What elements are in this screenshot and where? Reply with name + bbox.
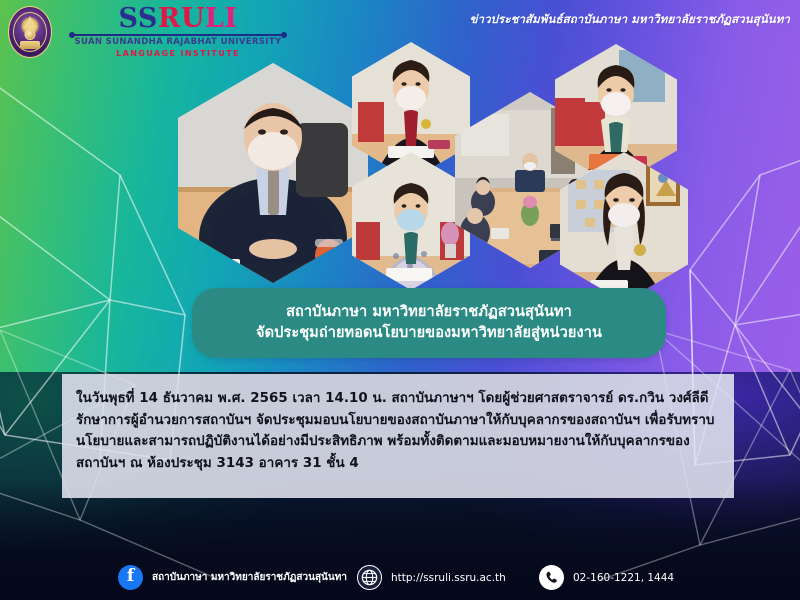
- header: SSRULI SUAN SUNANDHA RAJABHAT UNIVERSITY…: [0, 0, 800, 64]
- phone-icon[interactable]: [539, 565, 564, 590]
- header-news-label: ข่าวประชาสัมพันธ์สถาบันภาษา มหาวิทยาลัยร…: [470, 11, 790, 29]
- globe-icon[interactable]: [357, 565, 382, 590]
- title-line-1: สถาบันภาษา มหาวิทยาลัยราชภัฏสวนสุนันทา: [286, 302, 572, 323]
- title-line-2: จัดประชุมถ่ายทอดนโยบายของมหาวิทยาลัยสู่ห…: [256, 323, 602, 344]
- poster-canvas: SSRULI SUAN SUNANDHA RAJABHAT UNIVERSITY…: [0, 0, 800, 600]
- footer-facebook[interactable]: f สถาบันภาษา มหาวิทยาลัยราชภัฏสวนสุนันทา: [118, 565, 347, 590]
- brand-logo: SSRULI SUAN SUNANDHA RAJABHAT UNIVERSITY…: [58, 5, 298, 58]
- footer: f สถาบันภาษา มหาวิทยาลัยราชภัฏสวนสุนันทา…: [0, 556, 800, 600]
- brand-institute-line: LANGUAGE INSTITUTE: [58, 49, 298, 58]
- brand-part-li: LI: [205, 3, 238, 34]
- photo-director-portrait: [178, 63, 368, 283]
- footer-website-label: http://ssruli.ssru.ac.th: [391, 572, 506, 584]
- footer-facebook-label: สถาบันภาษา มหาวิทยาลัยราชภัฏสวนสุนันทา: [152, 570, 347, 585]
- brand-university-line: SUAN SUNANDHA RAJABHAT UNIVERSITY: [58, 37, 298, 47]
- footer-website[interactable]: http://ssruli.ssru.ac.th: [357, 565, 506, 590]
- footer-phone-label: 02-160-1221, 1444: [573, 572, 674, 584]
- seal-orb-shape: [25, 29, 36, 40]
- facebook-icon[interactable]: f: [118, 565, 143, 590]
- body-paragraph: ในวันพุธที่ 14 ธันวาคม พ.ศ. 2565 เวลา 14…: [76, 388, 720, 475]
- photo-director-portrait-image: [178, 63, 368, 283]
- brand-divider-bar: [72, 34, 284, 36]
- body-text-panel: ในวันพุธที่ 14 ธันวาคม พ.ศ. 2565 เวลา 14…: [62, 374, 734, 498]
- title-banner: สถาบันภาษา มหาวิทยาลัยราชภัฏสวนสุนันทา จ…: [192, 288, 666, 358]
- seal-base-shape: [20, 41, 40, 49]
- brand-part-ru: RU: [158, 3, 205, 34]
- footer-phone[interactable]: 02-160-1221, 1444: [539, 565, 674, 590]
- photo-staff-woman-floral-image: [352, 152, 470, 290]
- brand-wordmark: SSRULI: [58, 5, 298, 32]
- seal-crown-shape: [24, 16, 36, 28]
- brand-part-ss: SS: [118, 3, 157, 34]
- photo-staff-woman-floral: [352, 152, 470, 290]
- university-seal-icon: [8, 6, 52, 58]
